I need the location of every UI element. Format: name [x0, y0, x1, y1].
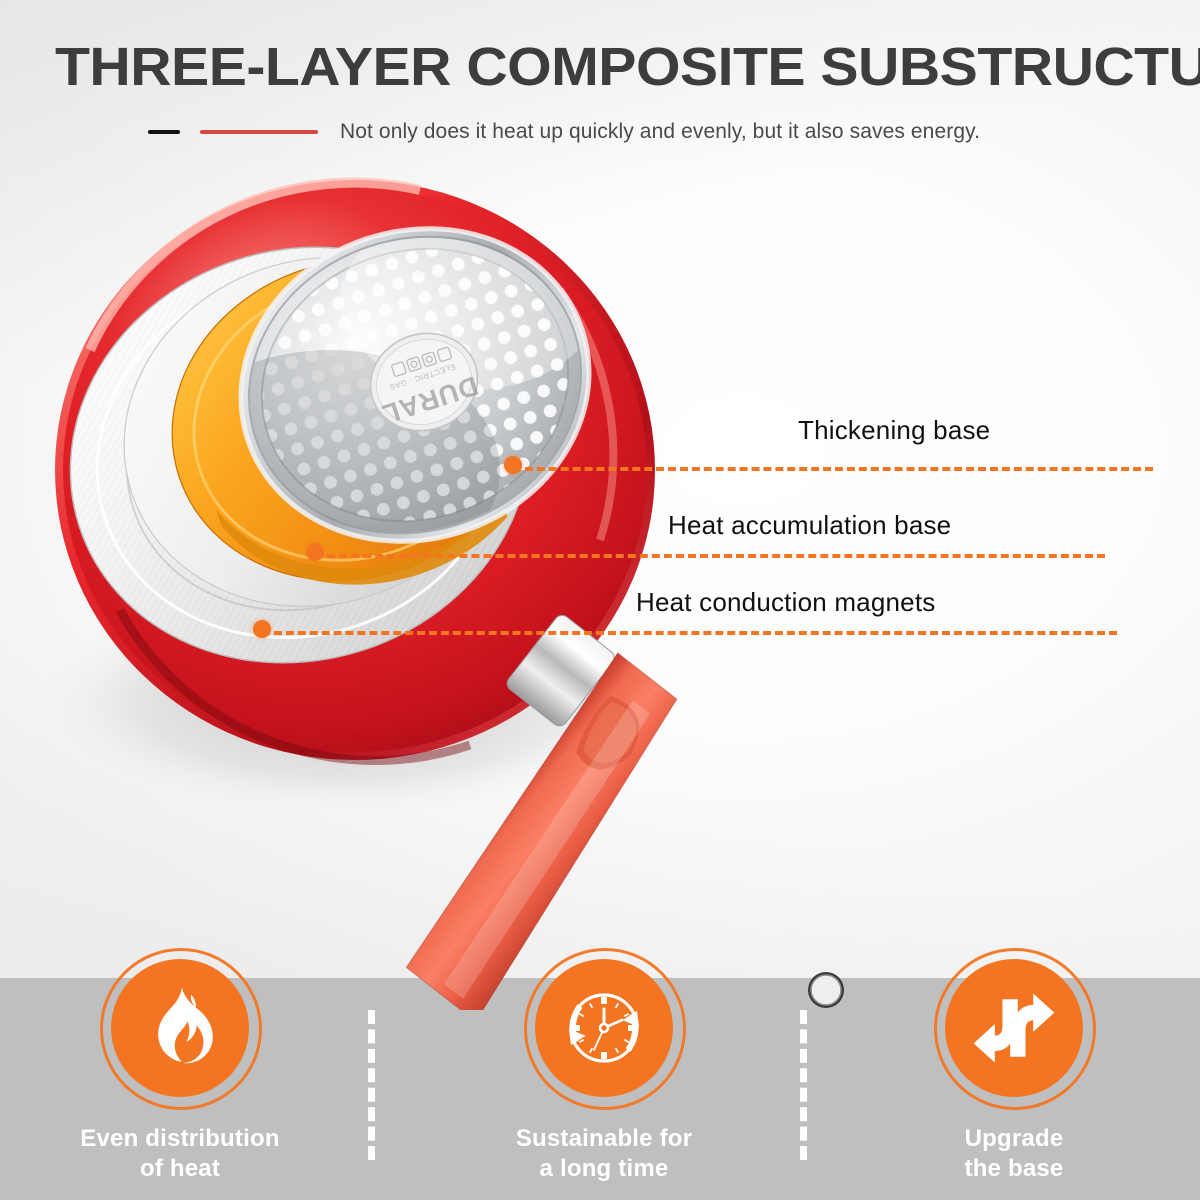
feature-badge-1	[100, 948, 260, 1108]
callout-dot-heat-accumulation-base	[306, 543, 324, 561]
feature-badge-3	[934, 948, 1094, 1108]
callout-dot-heat-conduction-magnets	[253, 620, 271, 638]
feature-upgrade-base[interactable]: Upgrade the base	[864, 948, 1164, 1184]
feature-text-1: Even distribution of heat	[30, 1124, 330, 1184]
callout-label-heat-accumulation-base: Heat accumulation base	[668, 510, 951, 541]
handle-hole-group	[808, 972, 863, 1010]
badge-disc-1	[111, 959, 249, 1097]
clock-icon	[554, 978, 654, 1078]
feature-text-3: Upgrade the base	[864, 1124, 1164, 1184]
badge-disc-3	[945, 959, 1083, 1097]
callout-label-heat-conduction-magnets: Heat conduction magnets	[636, 587, 935, 618]
callout-line-heat-accumulation-base	[315, 554, 1105, 558]
badge-disc-2	[535, 959, 673, 1097]
product-illustration: DURAL ELECTRIC · GAS	[0, 0, 1200, 1010]
feature-text-2: Sustainable for a long time	[454, 1124, 754, 1184]
feature-text-1-line1: Even distribution	[30, 1124, 330, 1154]
feature-text-3-line2: the base	[864, 1154, 1164, 1184]
feature-text-2-line1: Sustainable for	[454, 1124, 754, 1154]
feature-text-3-line1: Upgrade	[864, 1124, 1164, 1154]
feature-divider-2	[800, 1010, 807, 1160]
callout-line-heat-conduction-magnets	[262, 631, 1117, 635]
callout-dot-thickening-base	[504, 456, 522, 474]
feature-sustainable[interactable]: Sustainable for a long time	[454, 948, 754, 1184]
feature-even-heat[interactable]: Even distribution of heat	[30, 948, 330, 1184]
infographic-canvas: THREE-LAYER COMPOSITE SUBSTRUCTURE Not o…	[0, 0, 1200, 1200]
feature-badge-2	[524, 948, 684, 1108]
flame-icon	[134, 982, 226, 1074]
feature-text-2-line2: a long time	[454, 1154, 754, 1184]
feature-divider-1	[368, 1010, 375, 1160]
feature-text-1-line2: of heat	[30, 1154, 330, 1184]
callout-line-thickening-base	[513, 467, 1153, 471]
refresh-icon	[966, 980, 1062, 1076]
callout-label-thickening-base: Thickening base	[798, 415, 990, 446]
